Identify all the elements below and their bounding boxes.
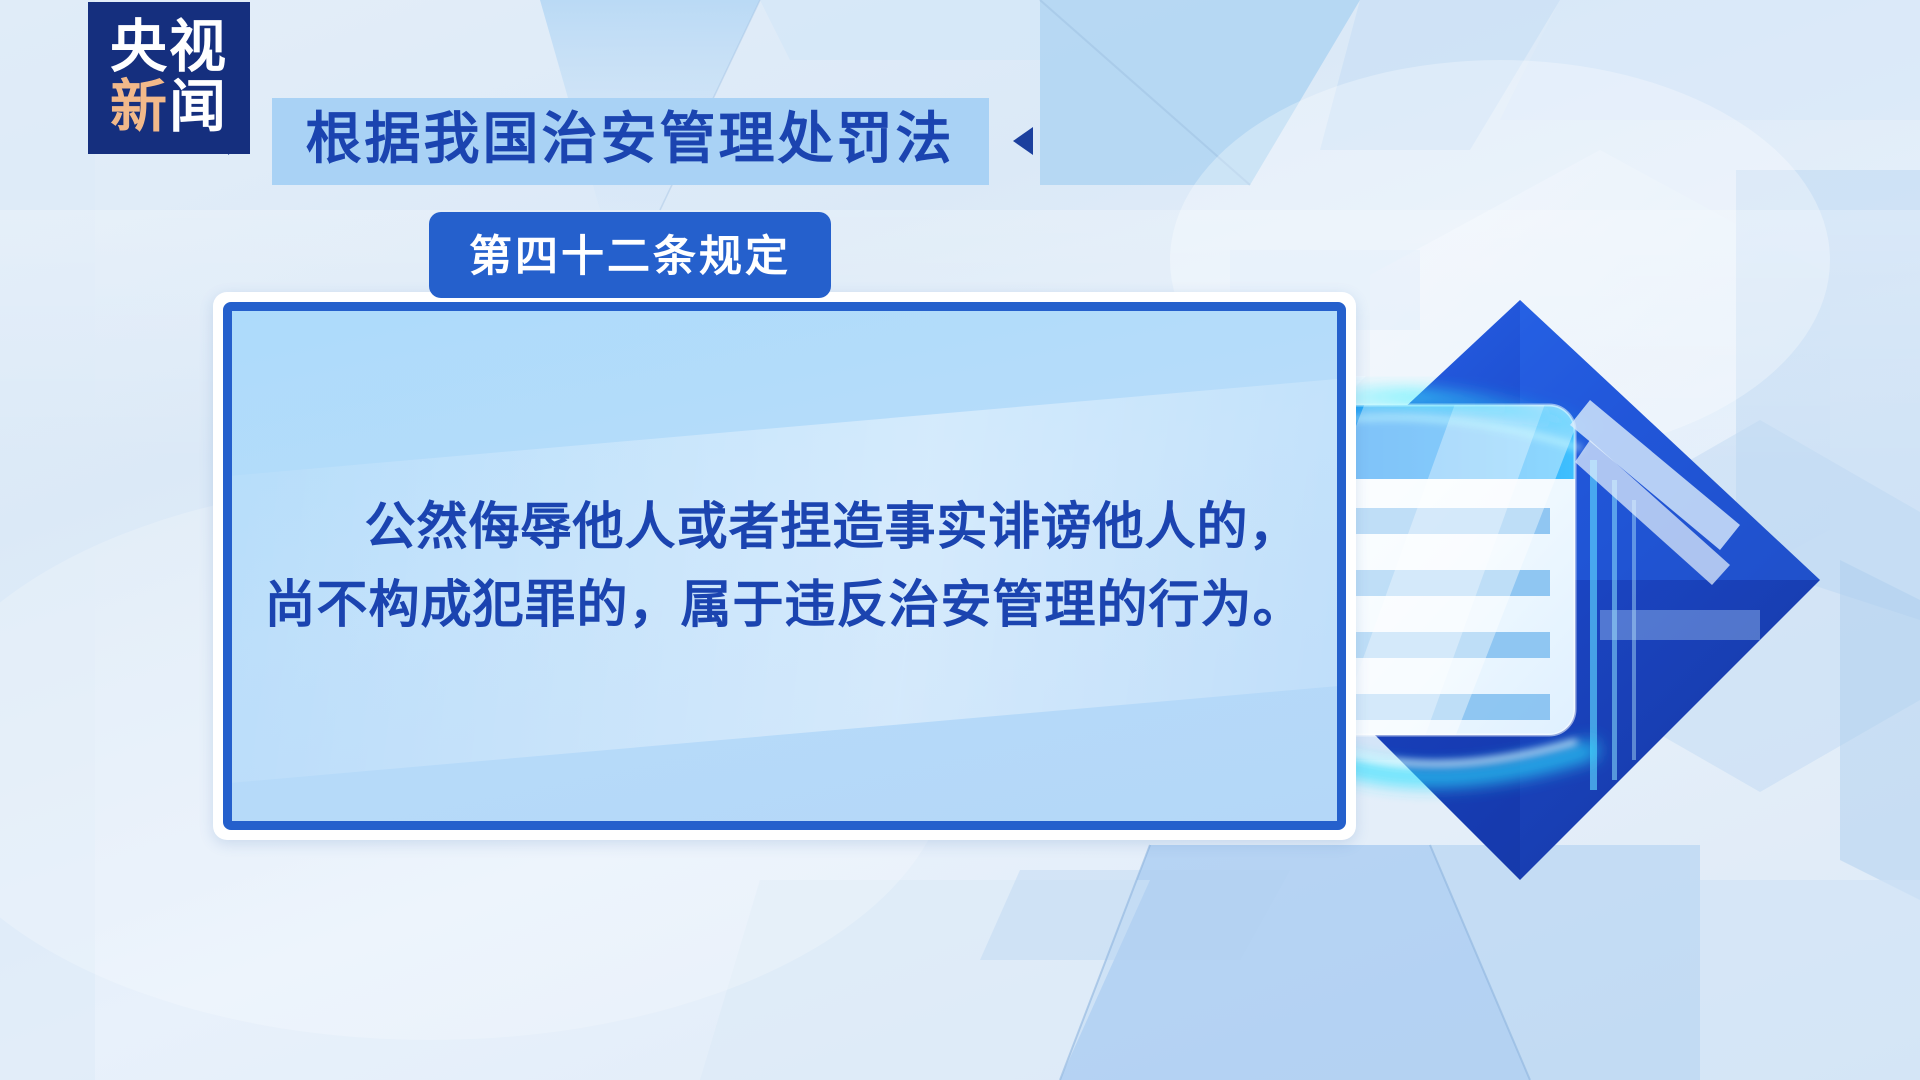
sub-badge-row: 第四十二条规定 (0, 212, 1260, 298)
logo-line-xinwen: 新闻 (110, 78, 228, 138)
logo-char-xin: 新 (110, 75, 169, 139)
headline-text: 根据我国治安管理处罚法 (306, 110, 955, 169)
headline-band: 根据我国治安管理处罚法 (272, 98, 989, 185)
law-text-line-1: 公然侮辱他人或者捏造事实诽谤他人的， (268, 488, 1300, 566)
article-badge: 第四十二条规定 (429, 212, 831, 298)
law-text-card: 公然侮辱他人或者捏造事实诽谤他人的， 尚不构成犯罪的，属于违反治安管理的行为。 (213, 292, 1356, 840)
law-text-body: 公然侮辱他人或者捏造事实诽谤他人的， 尚不构成犯罪的，属于违反治安管理的行为。 (232, 311, 1337, 821)
law-text-card-border: 公然侮辱他人或者捏造事实诽谤他人的， 尚不构成犯罪的，属于违反治安管理的行为。 (223, 302, 1346, 830)
slide-canvas: 央视 新闻 根据我国治安管理处罚法 第四十二条规定 公然侮辱他人或者捏造事实诽谤… (0, 0, 1920, 1080)
law-text-line-2: 尚不构成犯罪的，属于违反治安管理的行为。 (264, 566, 1304, 644)
triangle-left-icon (1013, 127, 1033, 155)
cctv-news-logo: 央视 新闻 (88, 2, 250, 154)
logo-line-yangshi: 央视 (110, 18, 228, 78)
logo-char-wen: 闻 (169, 75, 228, 139)
